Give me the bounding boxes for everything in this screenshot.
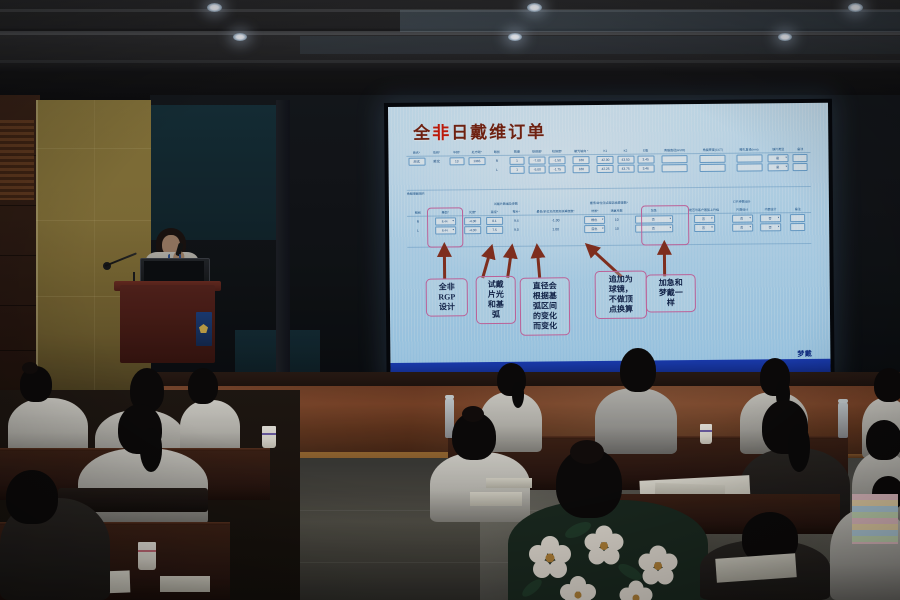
paper-cup[interactable]: [700, 424, 712, 444]
callout-line: 加急和: [649, 278, 693, 288]
ceiling-panel-lower: [300, 36, 900, 54]
water-bottle[interactable]: [838, 402, 848, 438]
ceiling-band-2: [0, 31, 900, 35]
ceiling-downlight: [527, 3, 542, 12]
wall-teal-panel: [150, 105, 280, 240]
callout-diameter: 直径会 根据基 弧区间 的变化 而变化: [520, 277, 571, 335]
ceiling-downlight: [233, 33, 247, 41]
callout-line: 弧: [479, 310, 513, 320]
audience-hair-bun: [462, 406, 484, 422]
projection-screen: 全非日戴维订单 姓名* 性别* 年龄* 处方眼* 眼别 数量 球镜度* 柱镜度*…: [388, 103, 831, 379]
arrow-diameter: [537, 251, 539, 278]
callout-line: 直径会: [523, 281, 567, 291]
paper-cup[interactable]: [262, 426, 276, 448]
callout-line: 和基: [479, 300, 513, 310]
paper-cup[interactable]: [138, 542, 156, 570]
callout-sphere: 追加为 球镜， 不做顶 点换算: [595, 271, 647, 319]
audience-hair: [788, 424, 810, 472]
callout-line: 的变化: [523, 311, 567, 321]
ceiling: [0, 0, 900, 100]
callout-line: 点换算: [598, 305, 644, 315]
annotation-arrows: [388, 103, 831, 379]
audience-head: [866, 420, 900, 460]
audience-head: [620, 348, 656, 392]
slide-footer-logo: 梦戴: [797, 349, 812, 359]
callout-trial: 试戴 片光 和基 弧: [476, 276, 516, 324]
ceiling-downlight: [207, 3, 222, 12]
notebook[interactable]: [160, 576, 210, 592]
callout-line: 样: [649, 298, 693, 308]
podium-emblem-icon: [199, 324, 208, 333]
callout-line: 根据基: [523, 291, 567, 301]
callout-rush: 加急和 梦戴一 样: [646, 274, 696, 312]
callout-line: 追加为: [598, 275, 644, 285]
colored-tabs-document[interactable]: [852, 494, 898, 544]
wall-column: [276, 100, 290, 390]
notebook[interactable]: [486, 478, 532, 488]
audience-hair: [512, 382, 524, 408]
callout-rgp: 全非 RGP 设计: [426, 278, 468, 316]
callout-line: 球镜，: [598, 285, 644, 295]
floral-pattern-icon: [508, 500, 708, 600]
audience-head: [6, 470, 58, 524]
arrow-trial-right: [507, 251, 511, 278]
callout-line: 全非: [429, 282, 465, 292]
callout-line: 设计: [429, 302, 465, 312]
wall-edge-highlight: [36, 100, 38, 400]
audience-body-floral: [508, 500, 708, 600]
callout-line: RGP: [429, 292, 465, 302]
audience-body: [595, 388, 677, 454]
wall-louver-vent: [0, 120, 34, 200]
podium-banner: [196, 312, 212, 346]
ceiling-panel-upper: [400, 10, 900, 32]
ceiling-downlight: [848, 3, 863, 12]
screen-surface: 全非日戴维订单 姓名* 性别* 年龄* 处方眼* 眼别 数量 球镜度* 柱镜度*…: [388, 103, 831, 379]
callout-line: 而变化: [523, 321, 567, 331]
audience-hair-bun: [22, 362, 38, 374]
callout-line: 不做顶: [598, 295, 644, 305]
callout-line: 弧区间: [523, 301, 567, 311]
ceiling-band-1: [0, 9, 900, 12]
audience-hair: [140, 428, 162, 472]
callout-line: 片光: [479, 290, 513, 300]
callout-line: 梦戴一: [649, 288, 693, 298]
audience-head: [188, 368, 218, 404]
ceiling-downlight: [508, 33, 522, 41]
arrow-trial-left: [482, 251, 490, 278]
lecture-hall-photo: 全非日戴维订单 姓名* 性别* 年龄* 处方眼* 眼别 数量 球镜度* 柱镜度*…: [0, 0, 900, 600]
ceiling-band-3: [0, 60, 900, 63]
ceiling-downlight: [778, 33, 792, 41]
callout-line: 试戴: [479, 280, 513, 290]
audience-hair-bun: [570, 440, 604, 464]
audience-head: [874, 368, 900, 402]
